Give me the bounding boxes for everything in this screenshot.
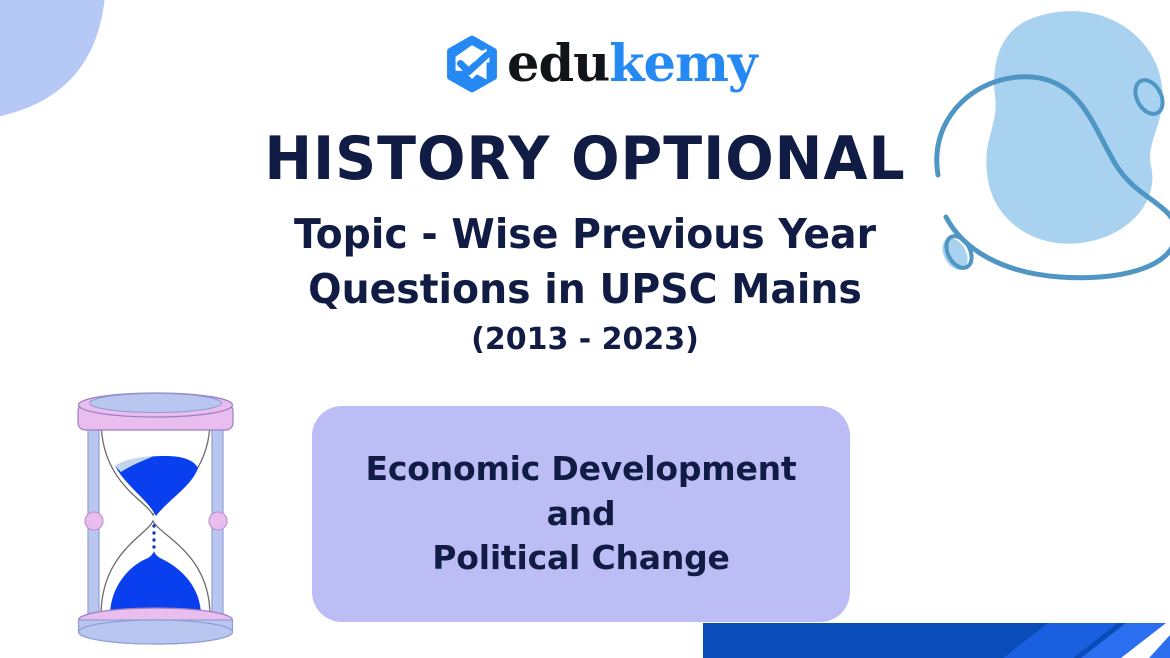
topic-line-2: and [547,495,616,534]
subtitle-line-2: Questions in UPSC Mains [23,262,1146,317]
edukemy-logo[interactable]: edukemy [441,29,721,99]
edukemy-wordmark: edukemy [507,39,757,90]
year-range-label: (2013 - 2023) [0,322,1170,358]
topic-card: Economic Development and Political Chang… [312,406,850,622]
logo-text-edu: edu [507,34,609,94]
upper-oval-ring-shape [1126,72,1170,124]
subtitle-line-1: Topic - Wise Previous Year [23,207,1146,262]
topic-line-3: Political Change [432,539,729,578]
poster-canvas: edukemy HISTORY OPTIONAL Topic - Wise Pr… [0,0,1170,658]
hourglass-icon [58,388,253,650]
bottom-right-stripe-bar [703,623,1170,658]
edukemy-hexagon-check-icon [441,33,503,95]
title-block: HISTORY OPTIONAL Topic - Wise Previous Y… [0,128,1170,358]
logo-text-kemy: kemy [609,34,756,94]
page-title: HISTORY OPTIONAL [29,128,1141,191]
topic-line-1: Economic Development [366,450,797,489]
